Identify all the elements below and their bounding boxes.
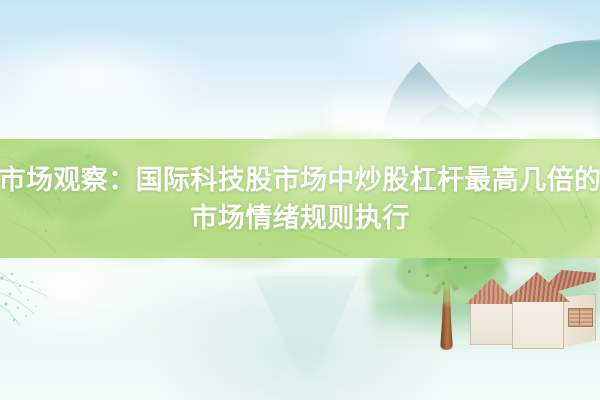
leaf-dot (464, 266, 467, 269)
house-front-wall (512, 298, 564, 349)
leaf-dot (426, 274, 429, 277)
cottage-house-icon (468, 272, 596, 358)
house-window-mullion (579, 308, 580, 325)
banner-title-line-2: 市场情绪规则执行 (190, 199, 409, 237)
house-window (568, 308, 593, 327)
mint-wisp-shape (230, 276, 380, 392)
house-left-wall (470, 300, 516, 345)
sky-background (0, 0, 600, 139)
banner-title: 市场观察：国际科技股市场中炒股杠杆最高几倍的 市场情绪规则执行 (0, 139, 600, 258)
leaf-dot (408, 270, 411, 273)
article-cover-banner: 市场观察：国际科技股市场中炒股杠杆最高几倍的 市场情绪规则执行 (0, 0, 600, 400)
leaf-dot (442, 282, 445, 285)
banner-title-line-1: 市场观察：国际科技股市场中炒股杠杆最高几倍的 (0, 161, 600, 199)
leaf-dot (448, 258, 451, 261)
